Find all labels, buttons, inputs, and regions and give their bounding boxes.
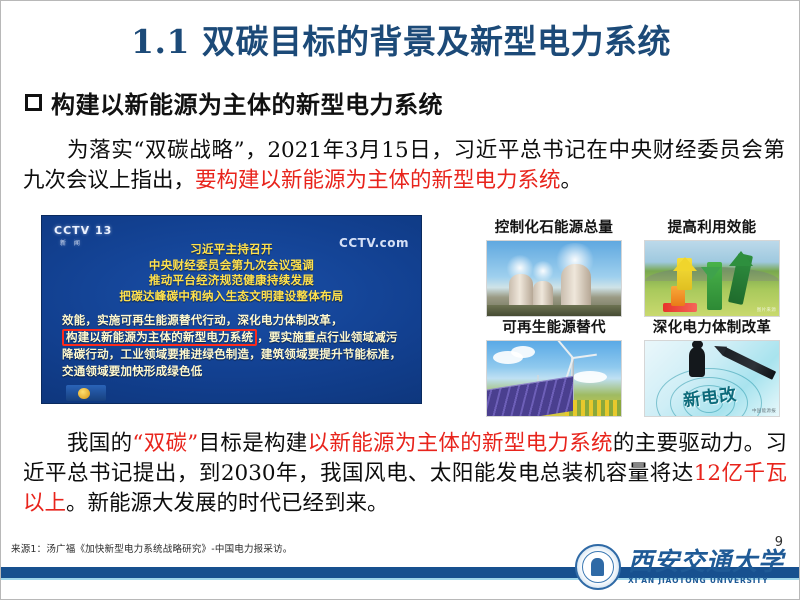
university-logo-text: 西安交通大学 XI'AN JIAOTONG UNIVERSITY [628, 549, 784, 585]
news-headline-line: 习近平主持召开 [42, 242, 421, 258]
person-silhouette-icon [689, 347, 705, 377]
photo-watermark: 图片来源 [757, 307, 776, 313]
slide-title: 1.1 双碳目标的背景及新型电力系统 [1, 15, 800, 63]
square-bullet-icon [25, 94, 42, 111]
grid-cell-power-reform: 深化电力体制改革 新电改 中国能源报 [639, 319, 785, 417]
news-headline-line: 推动平台经济规范健康持续发展 [42, 273, 421, 289]
news-headline-line: 把碳达峰碳中和纳入生态文明建设整体布局 [42, 289, 421, 305]
news-body-highlight-box: 构建以新能源为主体的新型电力系统 [62, 329, 257, 346]
conclusion-highlight1: “双碳” [132, 431, 198, 456]
grid-cell-fossil-control: 控制化石能源总量 [481, 219, 627, 317]
news-body-text: 效能，实施可再生能源替代行动，深化电力体制改革，构建以新能源为主体的新型电力系统… [62, 312, 405, 380]
turbine-blade [573, 354, 597, 359]
power-reform-photo: 新电改 中国能源报 [644, 340, 780, 417]
yellow-arrow-head [673, 257, 697, 271]
university-name-cn: 西安交通大学 [628, 549, 784, 574]
solar-panel-array [486, 376, 573, 417]
broadcast-bug-icon [66, 385, 106, 401]
flower-field [565, 400, 621, 416]
conclusion-part4: 。新能源大发展的时代已经到来。 [66, 491, 389, 516]
news-body-before: 效能，实施可再生能源替代行动，深化电力体制改革， [62, 313, 343, 327]
smoke-plume [531, 261, 555, 281]
subheading-text: 构建以新能源为主体的新型电力系统 [51, 85, 443, 120]
cooling-tower [533, 281, 553, 308]
news-headline-line: 中央财经委员会第九次会议强调 [42, 258, 421, 274]
intro-paragraph: 为落实“双碳战略”，2021年3月15日，习近平总书记在中央财经委员会第九次会议… [23, 136, 785, 196]
grid-cell-efficiency: 提高利用效能 图片来源 [639, 219, 785, 317]
down-arrow-head [701, 267, 721, 280]
green-arrows-photo: 图片来源 [644, 240, 780, 317]
cctv13-logo-text: CCTV 13 [54, 224, 112, 237]
university-seal-icon [575, 544, 621, 590]
cctv-news-screenshot: CCTV 13 新 闻 CCTV.com 习近平主持召开 中央财经委员会第九次会… [41, 215, 422, 404]
cloud-shape [573, 371, 607, 383]
grid-cell-caption: 可再生能源替代 [481, 319, 627, 337]
conclusion-part1: 我国的 [67, 431, 132, 456]
cooling-tower [509, 274, 533, 308]
presentation-slide: 1.1 双碳目标的背景及新型电力系统 构建以新能源为主体的新型电力系统 为落实“… [0, 0, 800, 600]
grid-cell-renewables: 可再生能源替代 [481, 319, 627, 417]
green-arrow-head [729, 251, 753, 266]
cooling-tower [561, 264, 591, 308]
conclusion-highlight2: 以新能源为主体的新型电力系统 [308, 431, 613, 456]
solar-wind-photo [486, 340, 622, 417]
cloud-shape [511, 346, 535, 358]
grid-cell-caption: 深化电力体制改革 [639, 319, 785, 337]
university-logo: 西安交通大学 XI'AN JIAOTONG UNIVERSITY [575, 544, 784, 590]
ground-strip [487, 305, 621, 316]
intro-text-part2: 。 [561, 168, 583, 193]
conclusion-part2: 目标是构建 [198, 431, 307, 456]
grid-cell-caption: 控制化石能源总量 [481, 219, 627, 237]
cooling-towers-photo [486, 240, 622, 317]
intro-text-highlight: 要构建以新能源为主体的新型电力系统 [195, 168, 561, 193]
source-note: 来源1：汤广福《加快新型电力系统战略研究》-中国电力报采访。 [11, 541, 292, 555]
photo-watermark: 中国能源报 [752, 408, 776, 414]
news-headline-block: 习近平主持召开 中央财经委员会第九次会议强调 推动平台经济规范健康持续发展 把碳… [42, 242, 421, 304]
turbine-blade [557, 340, 574, 359]
grid-cell-caption: 提高利用效能 [639, 219, 785, 237]
conclusion-paragraph: 我国的“双碳”目标是构建以新能源为主体的新型电力系统的主要驱动力。习近平总书记提… [23, 429, 787, 519]
university-name-en: XI'AN JIAOTONG UNIVERSITY [628, 577, 784, 585]
section-subheading: 构建以新能源为主体的新型电力系统 [25, 85, 443, 120]
